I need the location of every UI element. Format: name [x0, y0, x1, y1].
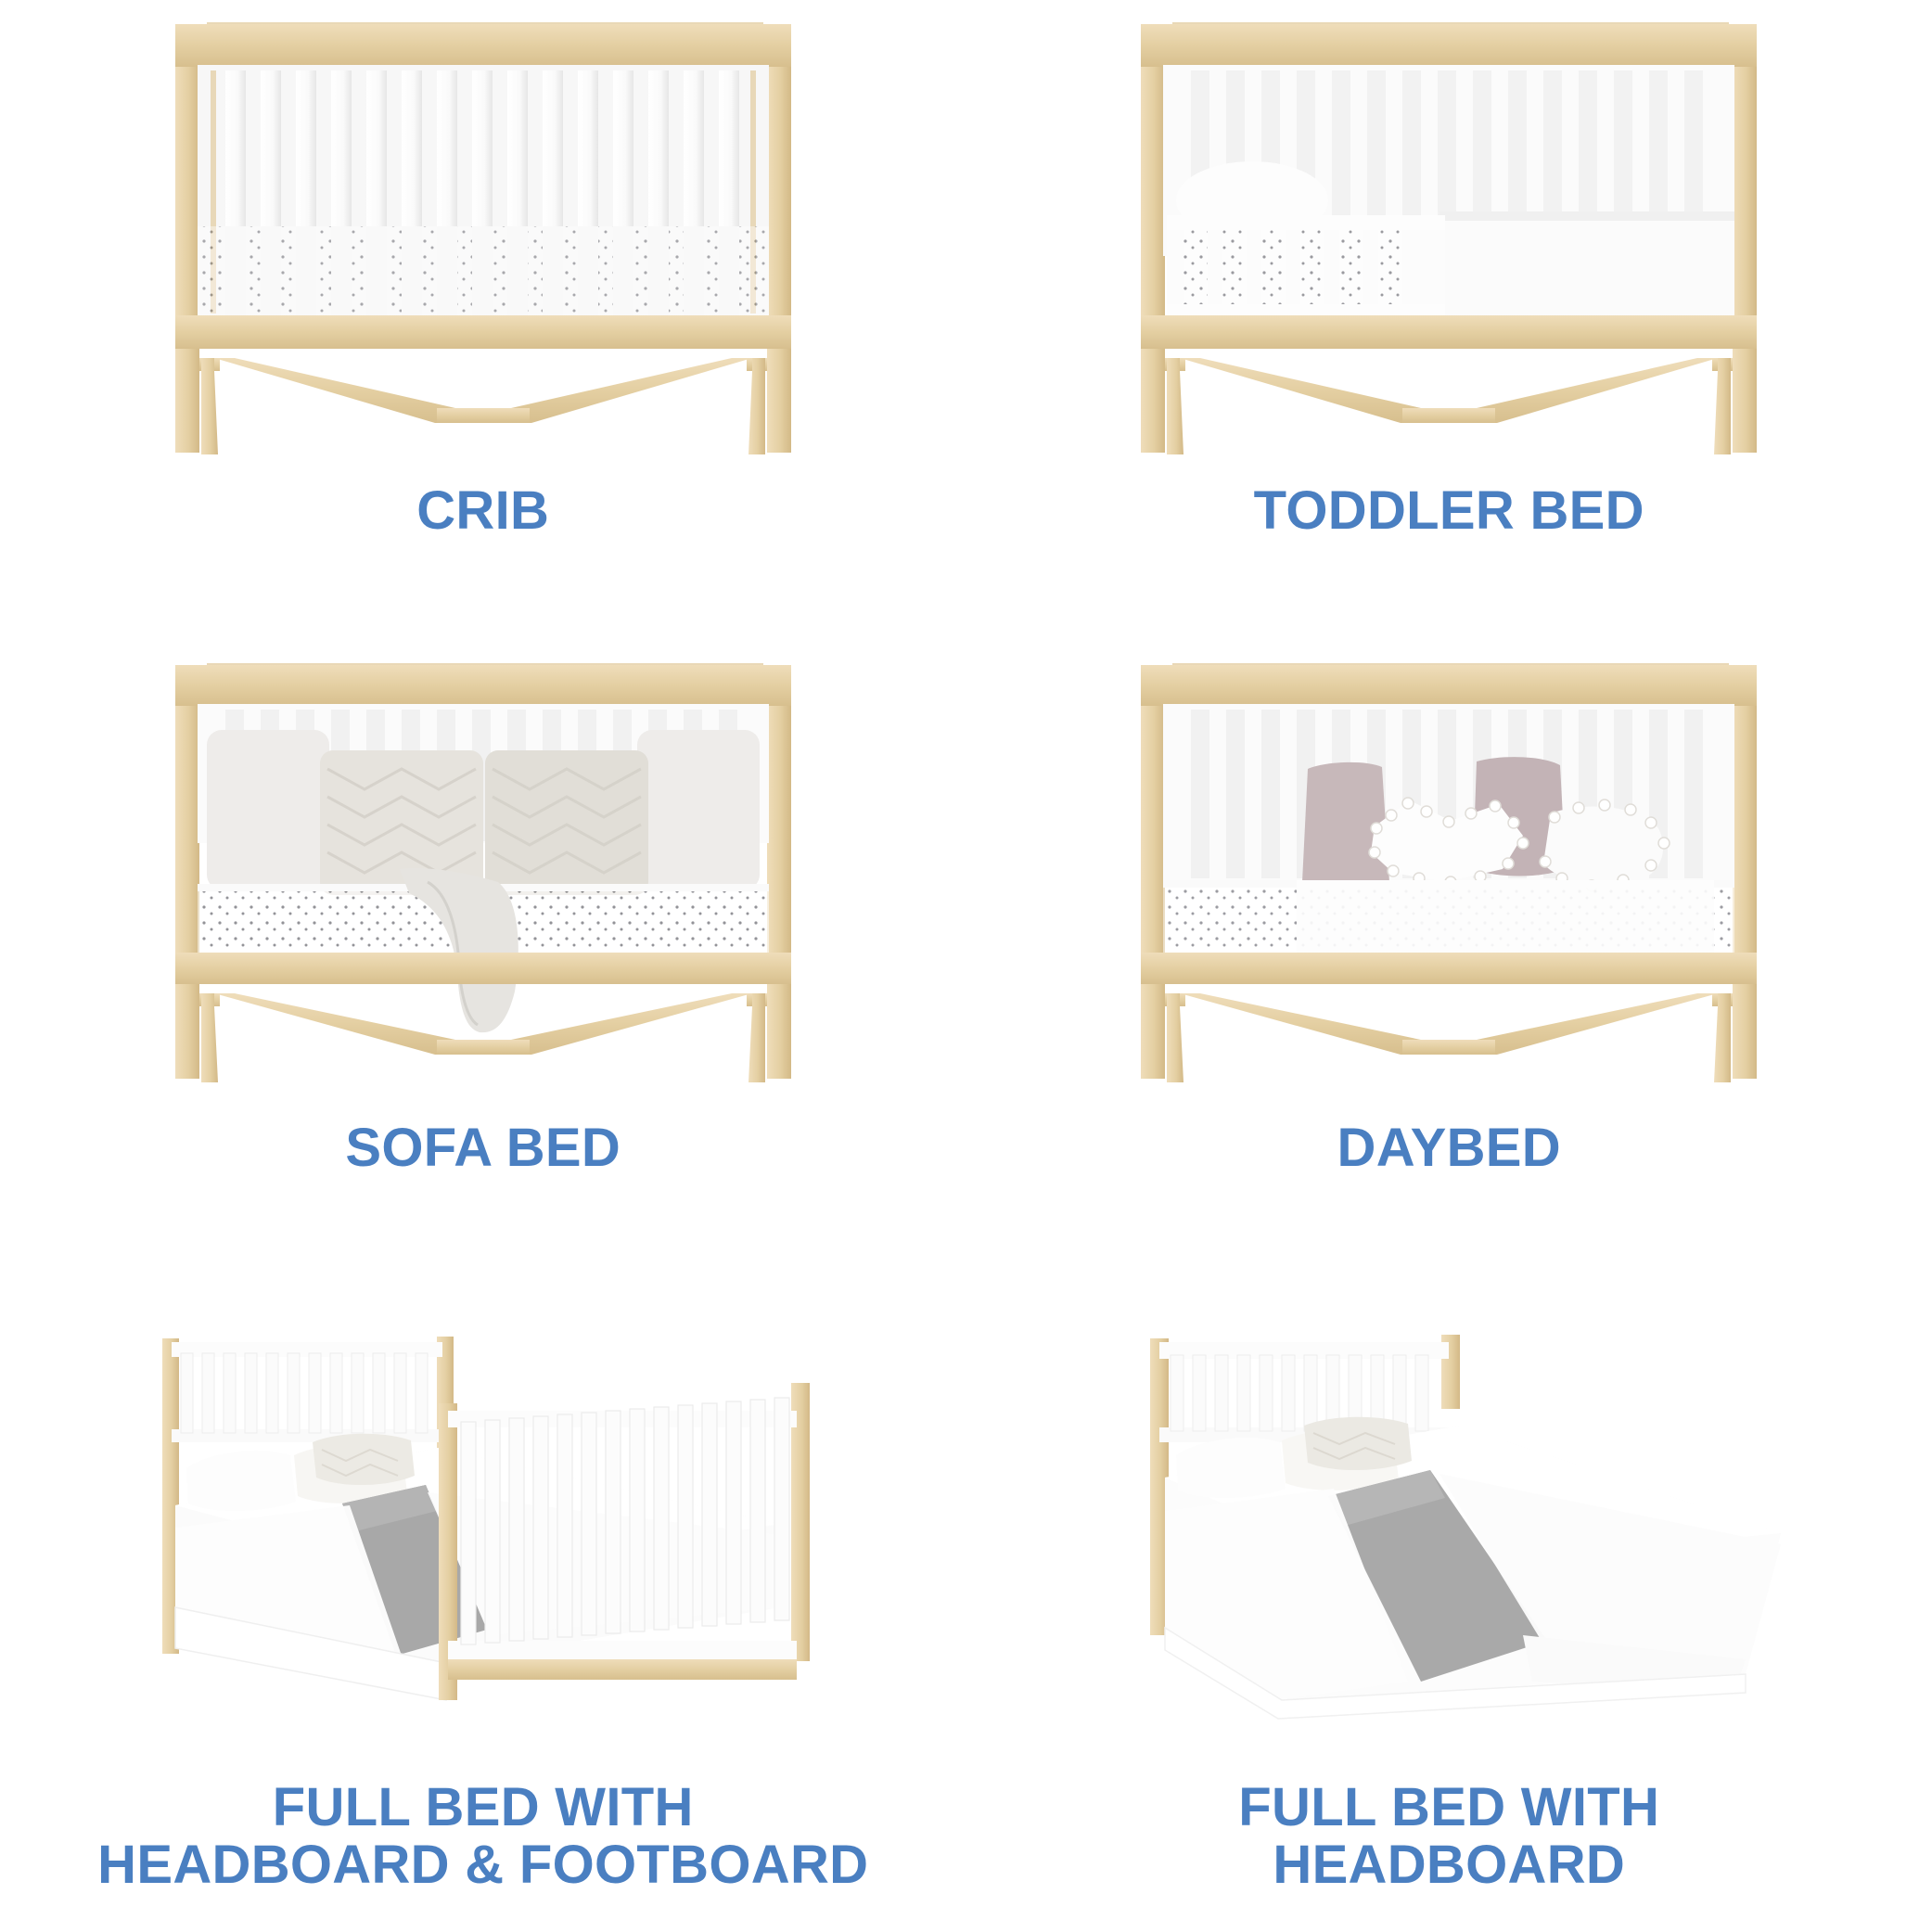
pillow-plain-right — [637, 730, 760, 889]
toddler-bed-illustration — [1087, 0, 1810, 482]
caption-line: CRIB — [0, 482, 966, 541]
full-bed-hb-fb-illustration — [131, 1329, 836, 1737]
configuration-grid: CRIB — [0, 0, 1932, 1932]
caption-line-2: HEADBOARD — [966, 1836, 1932, 1895]
toddler-guard-rail — [1167, 215, 1445, 319]
full-bed-hb-illustration — [1096, 1329, 1801, 1737]
toddler-mattress — [1439, 211, 1734, 315]
caption-daybed: DAYBED — [966, 1120, 1932, 1287]
config-cell-crib: CRIB — [0, 0, 966, 644]
caption-sofa-bed: SOFA BED — [0, 1120, 966, 1287]
crib-image — [0, 0, 966, 482]
config-cell-daybed: DAYBED — [966, 644, 1932, 1287]
caption-line: TODDLER BED — [966, 482, 1932, 541]
config-cell-toddler-bed: TODDLER BED — [966, 0, 1932, 644]
crib-illustration — [122, 0, 845, 482]
config-cell-full-bed-hb-fb: FULL BED WITH HEADBOARD & FOOTBOARD — [0, 1287, 966, 1932]
full-bed-hb-image — [966, 1287, 1932, 1779]
caption-full-bed-hb-fb: FULL BED WITH HEADBOARD & FOOTBOARD — [0, 1779, 966, 1932]
daybed-illustration — [1087, 650, 1810, 1114]
sofa-bed-image — [0, 644, 966, 1120]
sofa-bed-illustration — [122, 650, 845, 1114]
caption-line-2: HEADBOARD & FOOTBOARD — [0, 1836, 966, 1895]
toddler-bed-image — [966, 0, 1932, 482]
crib-x-base — [199, 358, 767, 423]
config-cell-sofa-bed: SOFA BED — [0, 644, 966, 1287]
caption-line-1: FULL BED WITH — [966, 1779, 1932, 1837]
caption-full-bed-hb: FULL BED WITH HEADBOARD — [966, 1779, 1932, 1932]
pillow-plain-left — [207, 730, 329, 889]
pillow-chevron-right — [485, 750, 648, 895]
full-bed-hb-fb-image — [0, 1287, 966, 1779]
caption-line: SOFA BED — [0, 1120, 966, 1178]
daybed-image — [966, 644, 1932, 1120]
caption-line-1: FULL BED WITH — [0, 1779, 966, 1837]
caption-line: DAYBED — [966, 1120, 1932, 1178]
toddler-x-base — [1165, 358, 1733, 423]
daybed-x-base — [1165, 993, 1733, 1055]
infographic-board: CRIB — [0, 0, 1932, 1932]
config-cell-full-bed-hb: FULL BED WITH HEADBOARD — [966, 1287, 1932, 1932]
